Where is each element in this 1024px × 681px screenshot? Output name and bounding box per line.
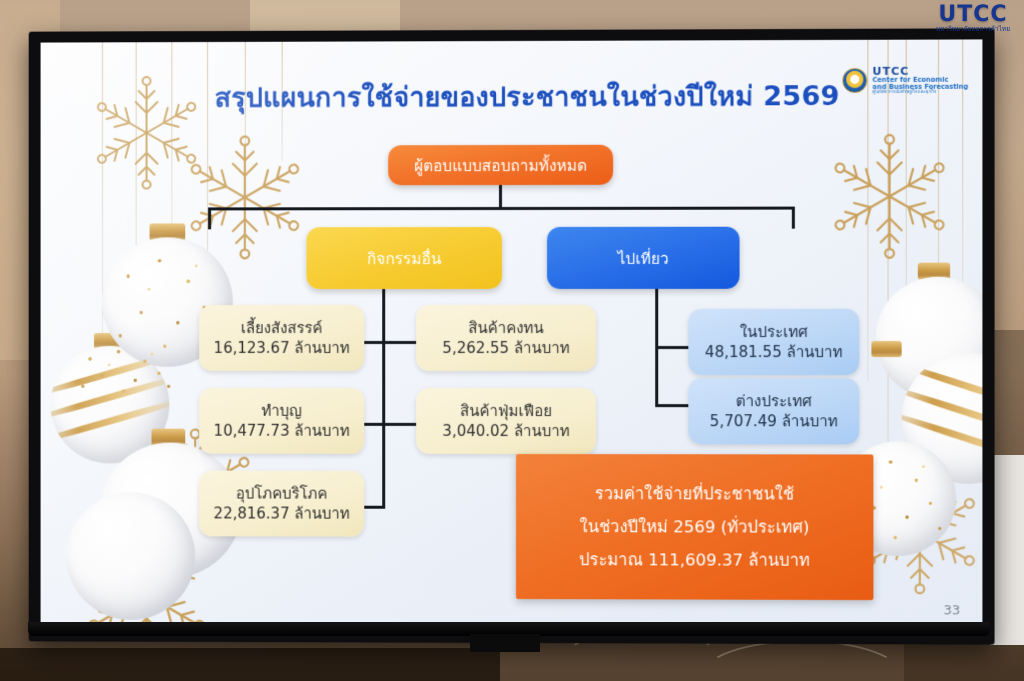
wall-panel-center: [250, 0, 400, 34]
leaf-box[interactable]: ในประเทศ 48,181.55 ล้านบาท: [688, 309, 859, 375]
ornament-bauble: [66, 492, 195, 620]
connector-root-horizontal: [208, 207, 795, 211]
node-branch-activities[interactable]: กิจกรรมอื่น: [307, 227, 503, 289]
snowflake-icon: [829, 136, 950, 257]
leaf-label: อุปโภคบริโภค: [236, 483, 328, 503]
leaf-box[interactable]: ทำบุญ 10,477.73 ล้านบาท: [199, 388, 364, 454]
leaf-box[interactable]: อุปโภคบริโภค 22,816.37 ล้านบาท: [199, 471, 364, 537]
page-number: 33: [943, 603, 960, 618]
leaf-label: สินค้าคงทน: [468, 318, 543, 338]
node-root[interactable]: ผู้ตอบแบบสอบถามทั้งหมด: [388, 145, 613, 185]
utcc-watermark: UTCC มหาวิทยาลัยหอการค้าไทย: [936, 2, 1010, 34]
connector-to-travel: [792, 207, 795, 229]
leaf-value: 48,181.55 ล้านบาท: [705, 342, 843, 362]
monitor-stand: [470, 634, 540, 652]
snowflake-icon: [185, 137, 304, 257]
connector-activities-spine: [382, 289, 385, 509]
leaf-label: ทำบุญ: [261, 401, 301, 421]
connector-root-down: [499, 183, 502, 209]
summary-line-2: ในช่วงปีใหม่ 2569 (ทั่วประเทศ): [580, 514, 810, 541]
ornament-glitter: [66, 341, 185, 401]
leaf-label: เลี้ยงสังสรรค์: [241, 318, 323, 338]
leaf-value: 22,816.37 ล้านบาท: [214, 503, 350, 523]
ornament-cap: [871, 341, 901, 357]
summary-line-1: รวมค่าใช้จ่ายที่ประชาชนใช้: [595, 481, 794, 507]
leaf-value: 10,477.73 ล้านบาท: [214, 421, 350, 441]
page-title: สรุปแผนการใช้จ่ายของประชาชนในช่วงปีใหม่ …: [207, 74, 847, 119]
node-activities-label: กิจกรรมอื่น: [367, 246, 441, 271]
under-desk-shadow: [0, 648, 500, 681]
leaf-label: สินค้าฟุ่มเฟือย: [460, 401, 552, 421]
leaf-value: 16,123.67 ล้านบาท: [214, 338, 350, 358]
leaf-box[interactable]: ต่างประเทศ 5,707.49 ล้านบาท: [688, 378, 859, 444]
presentation-slide: สรุปแผนการใช้จ่ายของประชาชนในช่วงปีใหม่ …: [41, 39, 983, 632]
logo-line3: ศูนย์พยากรณ์เศรษฐกิจและธุรกิจ: [872, 90, 968, 95]
leaf-box[interactable]: สินค้าฟุ่มเฟือย 3,040.02 ล้านบาท: [416, 388, 596, 454]
node-branch-travel[interactable]: ไปเที่ยว: [547, 227, 740, 289]
connector-to-activities: [208, 207, 211, 229]
utcc-seal-icon: [842, 68, 867, 93]
node-travel-label: ไปเที่ยว: [618, 245, 669, 270]
leaf-value: 5,707.49 ล้านบาท: [710, 411, 838, 431]
summary-line-3: ประมาณ 111,609.37 ล้านบาท: [579, 547, 810, 574]
utcc-logo: UTCC Center for Economic and Business Fo…: [842, 66, 968, 96]
leaf-box[interactable]: เลี้ยงสังสรรค์ 16,123.67 ล้านบาท: [199, 305, 364, 371]
panel-white-right: [990, 455, 1024, 645]
watermark-thai: มหาวิทยาลัยหอการค้าไทย: [936, 24, 1010, 34]
photo-scene: UTCC มหาวิทยาลัยหอการค้าไทย: [0, 0, 1024, 681]
node-root-label: ผู้ตอบแบบสอบถามทั้งหมด: [414, 152, 587, 177]
leaf-label: ต่างประเทศ: [736, 391, 812, 411]
monitor-frame: สรุปแผนการใช้จ่ายของประชาชนในช่วงปีใหม่ …: [29, 28, 995, 644]
leaf-value: 3,040.02 ล้านบาท: [442, 421, 569, 441]
leaf-label: ในประเทศ: [740, 322, 808, 342]
leaf-value: 5,262.55 ล้านบาท: [442, 338, 569, 358]
leaf-box[interactable]: สินค้าคงทน 5,262.55 ล้านบาท: [416, 305, 596, 371]
summary-box[interactable]: รวมค่าใช้จ่ายที่ประชาชนใช้ ในช่วงปีใหม่ …: [516, 454, 873, 600]
